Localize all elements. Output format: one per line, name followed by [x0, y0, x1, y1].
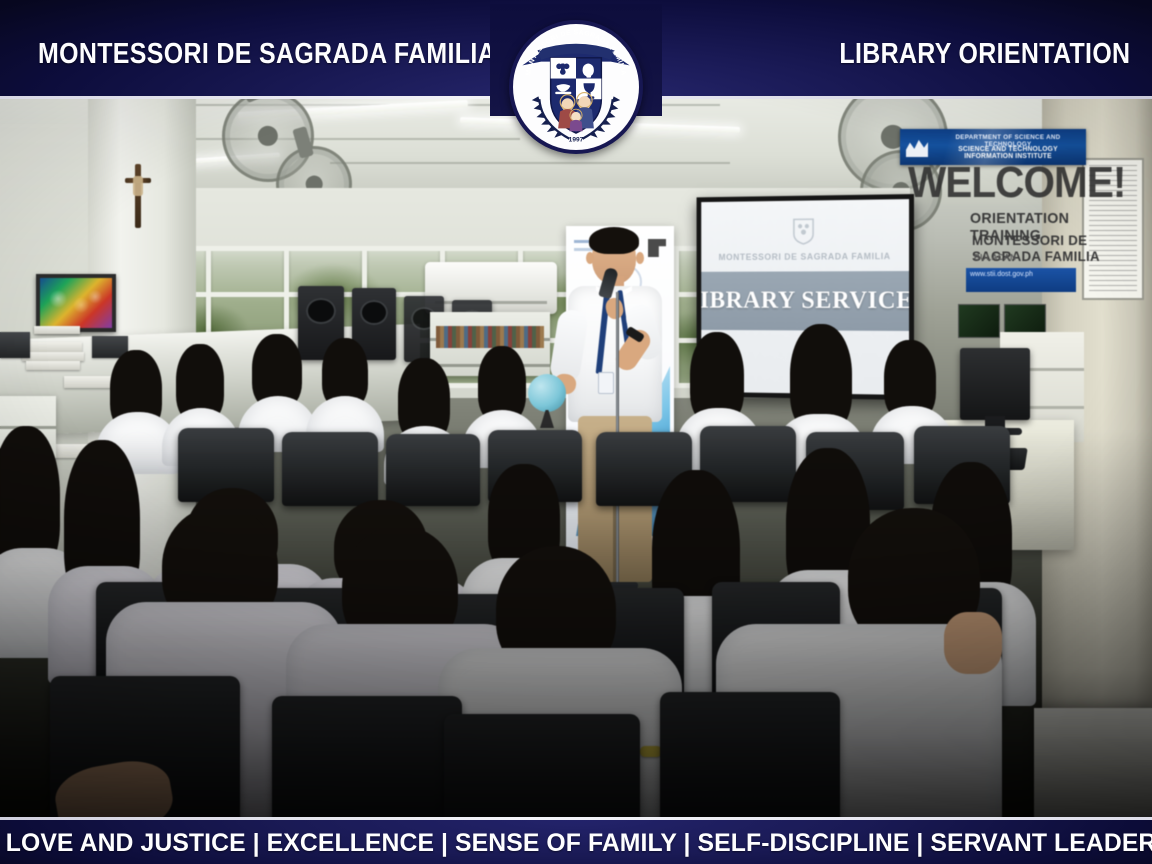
- book-stack: [34, 326, 80, 334]
- presenter-id-badge: [598, 372, 614, 394]
- slide-crest-icon: [791, 217, 816, 245]
- crucifix-icon: [125, 164, 151, 228]
- chair: [386, 434, 480, 506]
- svg-text:1997: 1997: [569, 137, 584, 144]
- orientation-line3: BULACAN: [974, 253, 1016, 262]
- student-hands: [944, 612, 1002, 674]
- event-photograph: DEPARTMENT OF SCIENCE AND TECHNOLOGY SCI…: [0, 96, 1152, 820]
- desktop-monitor: [960, 348, 1030, 420]
- event-title: LIBRARY ORIENTATION: [839, 38, 1130, 71]
- handheld-object: [640, 746, 662, 757]
- chair: [272, 696, 462, 820]
- slide-title: LIBRARY SERVICES: [701, 287, 909, 315]
- chair: [444, 714, 640, 820]
- chair: [660, 692, 840, 820]
- framed-painting: [36, 274, 116, 332]
- equipment-box: [0, 332, 30, 358]
- book-stack: [26, 361, 80, 370]
- library-table: [1034, 708, 1152, 820]
- school-crest-icon: MONTESSORI DE SAGRADA FAMILIA: [509, 20, 643, 154]
- poster-photo-tile: [958, 304, 1000, 338]
- poster-canvas: MONTESSORI DE SAGRADA FAMILIA LIBRARY OR…: [0, 0, 1152, 864]
- crest-container: MONTESSORI DE SAGRADA FAMILIA: [490, 4, 662, 172]
- footer-bar: LOVE AND JUSTICE | EXCELLENCE | SENSE OF…: [0, 820, 1152, 864]
- school-motto: LOVE AND JUSTICE | EXCELLENCE | SENSE OF…: [6, 829, 1146, 858]
- book-stack: [22, 352, 84, 361]
- school-name-title: MONTESSORI DE SAGRADA FAMILIA: [38, 38, 496, 71]
- globe: [528, 374, 566, 412]
- slide-title-band: LIBRARY SERVICES: [701, 271, 909, 331]
- slide-subtitle: MONTESSORI DE SAGRADA FAMILIA: [701, 251, 909, 262]
- presenter-hair: [589, 227, 639, 254]
- chair: [282, 432, 378, 506]
- book-stack: [24, 342, 82, 352]
- web-strip: www.stii.dost.gov.ph: [966, 268, 1076, 292]
- welcome-headline: WELCOME!: [908, 158, 1125, 208]
- shelved-books: [436, 326, 544, 348]
